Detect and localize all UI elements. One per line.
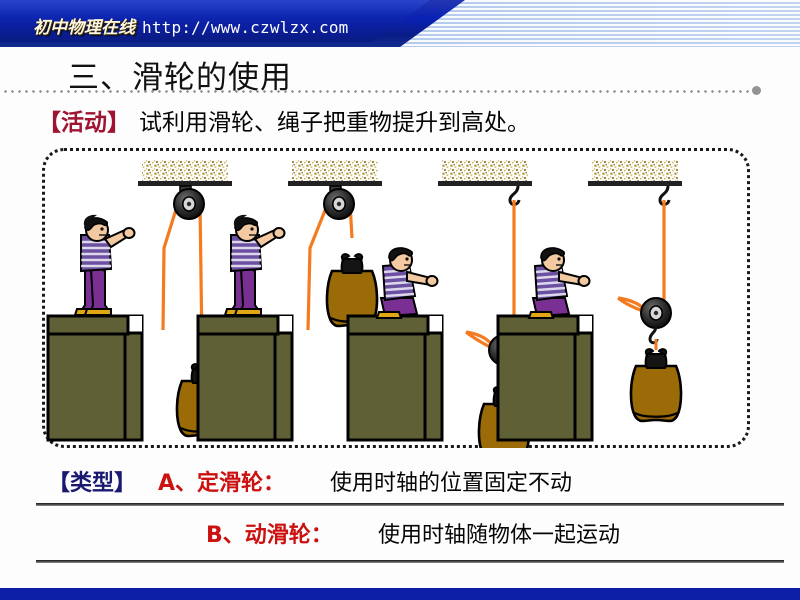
- type-b-label: B、动滑轮：: [206, 517, 333, 549]
- activity-tag: 【活动】: [38, 103, 130, 137]
- type-a-label: A、定滑轮：: [158, 465, 285, 497]
- footer-bar: [0, 588, 800, 600]
- logo-url-text: http://www.czwlzx.com: [142, 18, 349, 37]
- type-row-a: 【类型】 A、定滑轮： 使用时轴的位置固定不动: [0, 463, 800, 505]
- activity-line: 【活动】 试利用滑轮、绳子把重物提升到高处。: [38, 103, 758, 135]
- pulley-type-block: 【类型】 A、定滑轮： 使用时轴的位置固定不动 B、动滑轮： 使用时轴随物体一起…: [0, 463, 800, 553]
- site-logo: 初中物理在线 http://www.czwlzx.com: [33, 13, 349, 38]
- logo-chinese-text: 初中物理在线: [33, 13, 135, 38]
- title-rule-end-dot: [752, 86, 761, 95]
- type-tag: 【类型】: [48, 465, 136, 497]
- site-banner: 初中物理在线 http://www.czwlzx.com: [0, 0, 800, 47]
- pulley-illustration: [42, 148, 750, 448]
- panel-movable-pulley-high: [498, 160, 682, 440]
- divider-rule-1: [36, 503, 784, 506]
- type-a-desc: 使用时轴的位置固定不动: [330, 465, 572, 497]
- title-dotted-rule: [2, 90, 754, 93]
- activity-text: 试利用滑轮、绳子把重物提升到高处。: [139, 103, 530, 137]
- type-row-b: B、动滑轮： 使用时轴随物体一起运动: [0, 505, 800, 553]
- type-b-desc: 使用时轴随物体一起运动: [378, 517, 620, 549]
- section-title-row: 三、滑轮的使用: [0, 52, 800, 92]
- divider-rule-2: [36, 560, 784, 563]
